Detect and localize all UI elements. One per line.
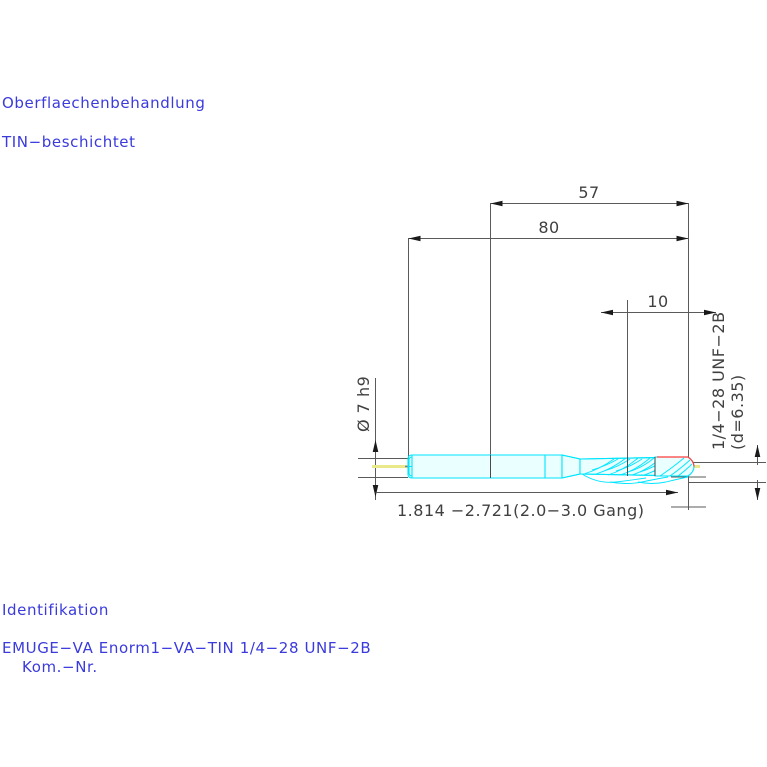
surface-treatment-heading: Oberflaechenbehandlung [2, 94, 205, 112]
identification-line-1: EMUGE−VA Enorm1−VA−TIN 1/4−28 UNF−2B [2, 639, 371, 657]
tool-shank [408, 455, 562, 478]
tool-neck-taper [562, 455, 580, 478]
dimension-shank-diameter-label: Ø 7 h9 [354, 376, 373, 432]
dimension-flute-length: 57 [491, 183, 689, 204]
tap-tool-drawing [372, 455, 700, 484]
annotation-text-block-top: Oberflaechenbehandlung TIN−beschichtet [1, 94, 205, 151]
cad-drawing-svg: 57 80 10 Ø 7 h9 1/4−28 UNF−2 [0, 0, 767, 767]
dimension-80-label: 80 [538, 218, 559, 237]
dimension-thread-length: 10 [601, 292, 716, 313]
technical-drawing-canvas: 57 80 10 Ø 7 h9 1/4−28 UNF−2 [0, 0, 767, 767]
dimension-thread-spec: 1/4−28 UNF−2B (d=6.35) [688, 311, 766, 500]
identification-line-2: Kom.−Nr. [22, 658, 98, 676]
dimension-10-label: 10 [647, 292, 668, 311]
surface-treatment-value: TIN−beschichtet [1, 133, 136, 151]
dimension-overall-length: 80 [409, 218, 689, 239]
dimension-thread-spec-line2: (d=6.35) [728, 374, 747, 450]
annotation-text-block-bottom: Identifikation EMUGE−VA Enorm1−VA−TIN 1/… [2, 601, 371, 676]
dimension-thread-spec-line1: 1/4−28 UNF−2B [709, 311, 728, 450]
dimension-57-label: 57 [578, 183, 599, 202]
identification-heading: Identifikation [2, 601, 109, 619]
tool-cutting-tip [655, 457, 694, 476]
dimension-shank-diameter: Ø 7 h9 [354, 376, 408, 497]
dimension-pitch-range-label: 1.814 −2.721(2.0−3.0 Gang) [397, 501, 644, 520]
